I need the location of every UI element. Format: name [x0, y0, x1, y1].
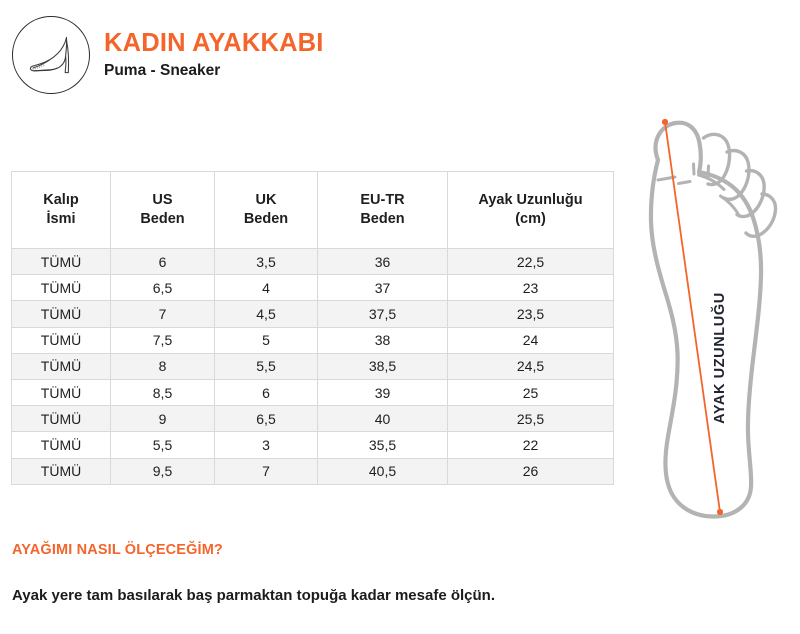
page-title: KADIN AYAKKABI — [104, 30, 324, 57]
cell-foot-length: 22 — [448, 432, 614, 458]
cell-uk-size: 6 — [215, 379, 318, 405]
table-row: TÜMÜ63,53622,5 — [12, 249, 614, 275]
column-header-mould-name: Kalıp İsmi — [12, 172, 111, 249]
column-header-uk-size: UK Beden — [215, 172, 318, 249]
table-row: TÜMÜ6,543723 — [12, 275, 614, 301]
size-chart-body: TÜMÜ63,53622,5TÜMÜ6,543723TÜMÜ74,537,523… — [12, 249, 614, 485]
column-header-eu-tr-size: EU-TR Beden — [318, 172, 448, 249]
how-to-measure-heading: AYAĞIMI NASIL ÖLÇECEĞİM? — [12, 543, 612, 559]
cell-us-size: 5,5 — [111, 432, 215, 458]
cell-eu-tr-size: 38,5 — [318, 353, 448, 379]
cell-eu-tr-size: 37,5 — [318, 301, 448, 327]
header-text-block: KADIN AYAKKABI Puma - Sneaker — [104, 30, 324, 79]
cell-mould-name: TÜMÜ — [12, 458, 111, 484]
table-row: TÜMÜ5,5335,522 — [12, 432, 614, 458]
cell-eu-tr-size: 37 — [318, 275, 448, 301]
size-chart-table: Kalıp İsmi US Beden UK Beden EU-TR Beden… — [11, 171, 614, 485]
cell-eu-tr-size: 40,5 — [318, 458, 448, 484]
cell-mould-name: TÜMÜ — [12, 249, 111, 275]
cell-foot-length: 26 — [448, 458, 614, 484]
cell-mould-name: TÜMÜ — [12, 275, 111, 301]
cell-foot-length: 22,5 — [448, 249, 614, 275]
cell-us-size: 8,5 — [111, 379, 215, 405]
size-chart-header-row: Kalıp İsmi US Beden UK Beden EU-TR Beden… — [12, 172, 614, 249]
size-chart-table-container: Kalıp İsmi US Beden UK Beden EU-TR Beden… — [11, 171, 613, 485]
cell-us-size: 7 — [111, 301, 215, 327]
high-heel-shoe-icon — [12, 16, 90, 94]
cell-uk-size: 7 — [215, 458, 318, 484]
page-subtitle: Puma - Sneaker — [104, 63, 324, 79]
cell-us-size: 8 — [111, 353, 215, 379]
table-row: TÜMÜ7,553824 — [12, 327, 614, 353]
table-row: TÜMÜ85,538,524,5 — [12, 353, 614, 379]
cell-eu-tr-size: 39 — [318, 379, 448, 405]
table-row: TÜMÜ9,5740,526 — [12, 458, 614, 484]
cell-foot-length: 25,5 — [448, 406, 614, 432]
table-row: TÜMÜ8,563925 — [12, 379, 614, 405]
cell-foot-length: 24,5 — [448, 353, 614, 379]
page-header: KADIN AYAKKABI Puma - Sneaker — [0, 0, 620, 110]
cell-foot-length: 25 — [448, 379, 614, 405]
foot-length-label: AYAK UZUNLUĞU — [710, 292, 728, 424]
cell-mould-name: TÜMÜ — [12, 327, 111, 353]
cell-uk-size: 3 — [215, 432, 318, 458]
cell-mould-name: TÜMÜ — [12, 379, 111, 405]
cell-us-size: 6 — [111, 249, 215, 275]
cell-eu-tr-size: 38 — [318, 327, 448, 353]
cell-uk-size: 4,5 — [215, 301, 318, 327]
cell-uk-size: 4 — [215, 275, 318, 301]
cell-uk-size: 5,5 — [215, 353, 318, 379]
cell-eu-tr-size: 40 — [318, 406, 448, 432]
cell-mould-name: TÜMÜ — [12, 353, 111, 379]
cell-us-size: 9 — [111, 406, 215, 432]
table-row: TÜMÜ96,54025,5 — [12, 406, 614, 432]
cell-uk-size: 3,5 — [215, 249, 318, 275]
cell-foot-length: 23 — [448, 275, 614, 301]
footer-notes: AYAĞIMI NASIL ÖLÇECEĞİM? Ayak yere tam b… — [12, 543, 612, 604]
column-header-us-size: US Beden — [111, 172, 215, 249]
cell-foot-length: 24 — [448, 327, 614, 353]
foot-measurement-diagram: AYAK UZUNLUĞU — [620, 108, 800, 528]
cell-foot-length: 23,5 — [448, 301, 614, 327]
cell-uk-size: 6,5 — [215, 406, 318, 432]
column-header-foot-length: Ayak Uzunluğu (cm) — [448, 172, 614, 249]
cell-us-size: 7,5 — [111, 327, 215, 353]
cell-us-size: 9,5 — [111, 458, 215, 484]
table-row: TÜMÜ74,537,523,5 — [12, 301, 614, 327]
cell-mould-name: TÜMÜ — [12, 432, 111, 458]
cell-mould-name: TÜMÜ — [12, 406, 111, 432]
how-to-measure-instruction: Ayak yere tam basılarak baş parmaktan to… — [12, 587, 612, 604]
cell-us-size: 6,5 — [111, 275, 215, 301]
cell-eu-tr-size: 35,5 — [318, 432, 448, 458]
cell-uk-size: 5 — [215, 327, 318, 353]
cell-mould-name: TÜMÜ — [12, 301, 111, 327]
cell-eu-tr-size: 36 — [318, 249, 448, 275]
